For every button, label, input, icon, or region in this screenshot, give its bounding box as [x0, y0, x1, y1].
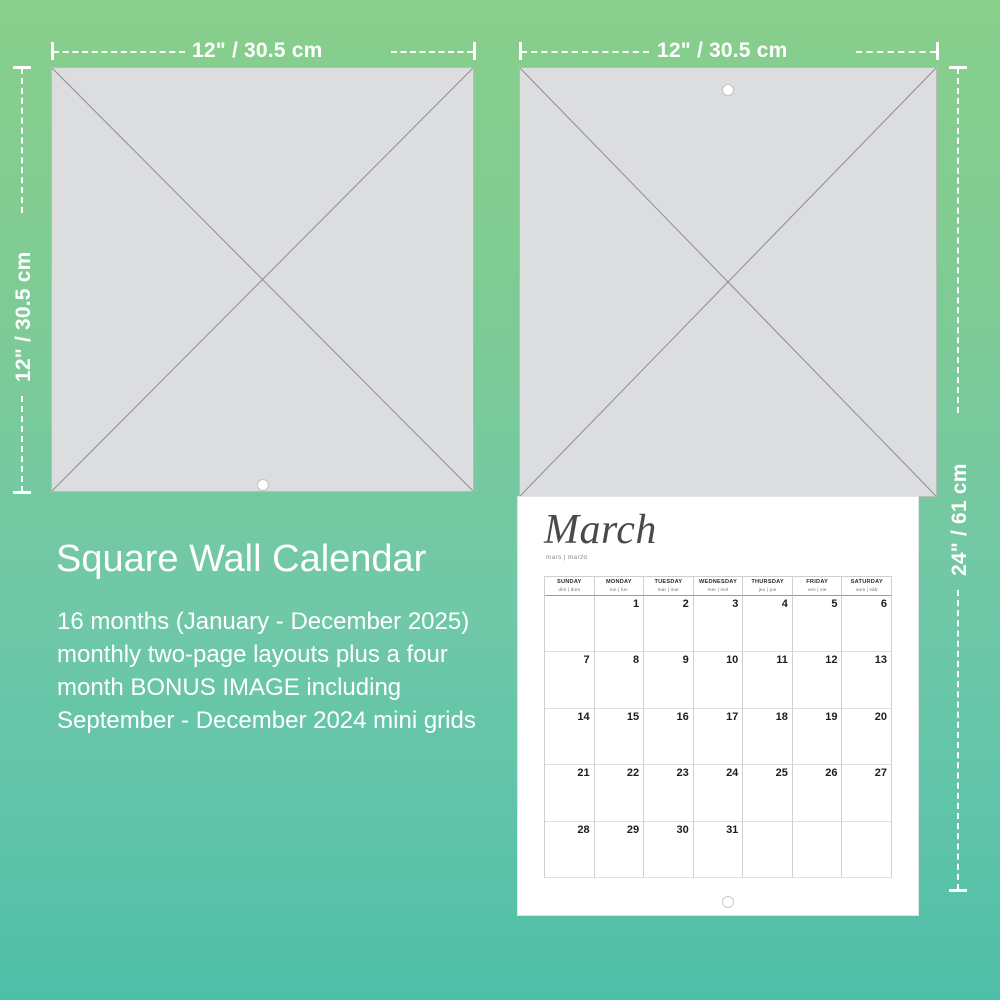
day-header-name: TUESDAY — [644, 579, 693, 587]
day-number: 13 — [875, 654, 887, 666]
product-description-line: September - December 2024 mini grids — [57, 704, 527, 737]
day-header-sunday: SUNDAY dim | dom — [545, 577, 595, 596]
day-number: 6 — [881, 598, 887, 610]
day-header-alt: mer | mié — [694, 587, 743, 593]
day-number: 24 — [726, 767, 738, 779]
day-header-alt: sam | sáb — [842, 587, 891, 593]
dim-top-right-dash-left — [521, 51, 649, 53]
calendar-day-cell[interactable]: 17 — [694, 709, 744, 766]
dim-top-right-label: 12" / 30.5 cm — [657, 39, 787, 63]
day-header-thursday: THURSDAY jeu | jue — [743, 577, 793, 596]
product-description-line: monthly two-page layouts plus a four — [57, 638, 527, 671]
day-number: 1 — [633, 598, 639, 610]
day-number: 18 — [776, 711, 788, 723]
calendar-week-row: 21 22 23 24 25 26 27 — [545, 765, 892, 822]
day-header-name: SUNDAY — [545, 579, 594, 587]
calendar-day-cell[interactable]: 5 — [793, 596, 843, 653]
day-header-alt: dim | dom — [545, 587, 594, 593]
hole-punch-left-image — [257, 479, 269, 491]
day-header-alt: ven | vie — [793, 587, 842, 593]
day-number: 11 — [776, 654, 788, 666]
day-number: 20 — [875, 711, 887, 723]
calendar-day-cell[interactable]: 20 — [842, 709, 892, 766]
calendar-day-cell[interactable]: 19 — [793, 709, 843, 766]
placeholder-diagonals — [520, 68, 936, 496]
calendar-day-cell[interactable]: 10 — [694, 652, 744, 709]
calendar-day-cell[interactable] — [545, 596, 595, 653]
day-number: 17 — [726, 711, 738, 723]
day-header-name: FRIDAY — [793, 579, 842, 587]
day-number: 31 — [726, 824, 738, 836]
day-header-friday: FRIDAY ven | vie — [793, 577, 843, 596]
calendar-header-row: SUNDAY dim | dom MONDAY lun | lun TUESDA… — [545, 577, 892, 596]
calendar-grid: SUNDAY dim | dom MONDAY lun | lun TUESDA… — [544, 576, 892, 878]
product-description-line: 16 months (January - December 2025) — [57, 605, 527, 638]
day-number: 30 — [676, 824, 688, 836]
day-number: 5 — [831, 598, 837, 610]
day-number: 10 — [726, 654, 738, 666]
day-header-monday: MONDAY lun | lun — [595, 577, 645, 596]
calendar-day-cell[interactable]: 22 — [595, 765, 645, 822]
calendar-top-page-image-placeholder — [519, 67, 937, 497]
calendar-week-row: 14 15 16 17 18 19 20 — [545, 709, 892, 766]
day-header-name: SATURDAY — [842, 579, 891, 587]
day-header-name: MONDAY — [595, 579, 644, 587]
dim-top-right-cap-end — [936, 42, 939, 60]
calendar-day-cell[interactable]: 6 — [842, 596, 892, 653]
calendar-day-cell[interactable]: 1 — [595, 596, 645, 653]
calendar-day-cell[interactable]: 15 — [595, 709, 645, 766]
calendar-week-row: 28 29 30 31 — [545, 822, 892, 879]
day-number: 3 — [732, 598, 738, 610]
calendar-day-cell[interactable]: 13 — [842, 652, 892, 709]
calendar-day-cell[interactable]: 14 — [545, 709, 595, 766]
dim-top-right-dash-right — [856, 51, 936, 53]
calendar-day-cell[interactable]: 4 — [743, 596, 793, 653]
calendar-day-cell[interactable]: 29 — [595, 822, 645, 879]
day-number: 27 — [875, 767, 887, 779]
calendar-day-cell[interactable]: 28 — [545, 822, 595, 879]
page-title: Square Wall Calendar — [56, 538, 426, 581]
day-number: 14 — [577, 711, 589, 723]
calendar-day-cell[interactable]: 2 — [644, 596, 694, 653]
dim-left-label: 12" / 30.5 cm — [12, 252, 36, 382]
day-number: 15 — [627, 711, 639, 723]
day-number: 21 — [577, 767, 589, 779]
day-number: 23 — [676, 767, 688, 779]
dim-right-dash-top — [957, 68, 959, 413]
calendar-day-cell[interactable]: 3 — [694, 596, 744, 653]
calendar-day-cell[interactable]: 7 — [545, 652, 595, 709]
calendar-day-cell[interactable]: 27 — [842, 765, 892, 822]
calendar-day-cell[interactable]: 31 — [694, 822, 744, 879]
dim-top-left-dash-right — [391, 51, 473, 53]
day-number: 26 — [825, 767, 837, 779]
day-number: 19 — [825, 711, 837, 723]
day-header-wednesday: WEDNESDAY mer | mié — [694, 577, 744, 596]
day-number: 4 — [782, 598, 788, 610]
dim-right-cap-bottom — [949, 889, 967, 892]
day-number: 8 — [633, 654, 639, 666]
day-header-name: THURSDAY — [743, 579, 792, 587]
dim-right-label: 24" / 61 cm — [948, 463, 972, 576]
day-number: 25 — [776, 767, 788, 779]
dim-top-left-label: 12" / 30.5 cm — [192, 39, 322, 63]
calendar-day-cell[interactable] — [842, 822, 892, 879]
calendar-day-cell[interactable]: 24 — [694, 765, 744, 822]
hole-punch-top-page — [722, 84, 734, 96]
dim-left-dash-bottom — [21, 396, 23, 492]
dim-right-dash-bottom — [957, 590, 959, 890]
product-description: 16 months (January - December 2025) mont… — [57, 605, 527, 737]
footer: brown trout BrownTrout Publishers, Inc. … — [0, 905, 1000, 1000]
calendar-day-cell[interactable]: 23 — [644, 765, 694, 822]
calendar-week-row: 1 2 3 4 5 6 — [545, 596, 892, 653]
calendar-day-cell[interactable] — [793, 822, 843, 879]
day-number: 9 — [683, 654, 689, 666]
calendar-day-cell[interactable]: 12 — [793, 652, 843, 709]
product-description-line: month BONUS IMAGE including — [57, 671, 527, 704]
day-number: 7 — [583, 654, 589, 666]
calendar-month-title: March — [518, 497, 918, 551]
day-header-name: WEDNESDAY — [694, 579, 743, 587]
day-header-alt: mar | mar — [644, 587, 693, 593]
dim-left-dash-top — [21, 68, 23, 213]
calendar-cover-image-placeholder — [51, 67, 474, 492]
calendar-day-cell[interactable]: 18 — [743, 709, 793, 766]
day-number: 22 — [627, 767, 639, 779]
dim-top-left-dash-left — [53, 51, 185, 53]
dim-top-left-cap-end — [473, 42, 476, 60]
dim-left-cap-bottom — [13, 491, 31, 494]
calendar-grid-page: March mars | marzo SUNDAY dim | dom MOND… — [518, 497, 918, 915]
day-header-alt: jeu | jue — [743, 587, 792, 593]
calendar-day-cell[interactable]: 26 — [793, 765, 843, 822]
calendar-day-cell[interactable]: 16 — [644, 709, 694, 766]
calendar-week-row: 7 8 9 10 11 12 13 — [545, 652, 892, 709]
day-header-tuesday: TUESDAY mar | mar — [644, 577, 694, 596]
calendar-day-cell[interactable] — [743, 822, 793, 879]
calendar-day-cell[interactable]: 25 — [743, 765, 793, 822]
day-number: 28 — [577, 824, 589, 836]
calendar-day-cell[interactable]: 21 — [545, 765, 595, 822]
calendar-day-cell[interactable]: 9 — [644, 652, 694, 709]
day-number: 2 — [683, 598, 689, 610]
day-number: 16 — [676, 711, 688, 723]
calendar-day-cell[interactable]: 11 — [743, 652, 793, 709]
calendar-day-cell[interactable]: 8 — [595, 652, 645, 709]
day-number: 29 — [627, 824, 639, 836]
placeholder-diagonals — [52, 68, 473, 491]
day-number: 12 — [825, 654, 837, 666]
day-header-alt: lun | lun — [595, 587, 644, 593]
calendar-day-cell[interactable]: 30 — [644, 822, 694, 879]
day-header-saturday: SATURDAY sam | sáb — [842, 577, 892, 596]
